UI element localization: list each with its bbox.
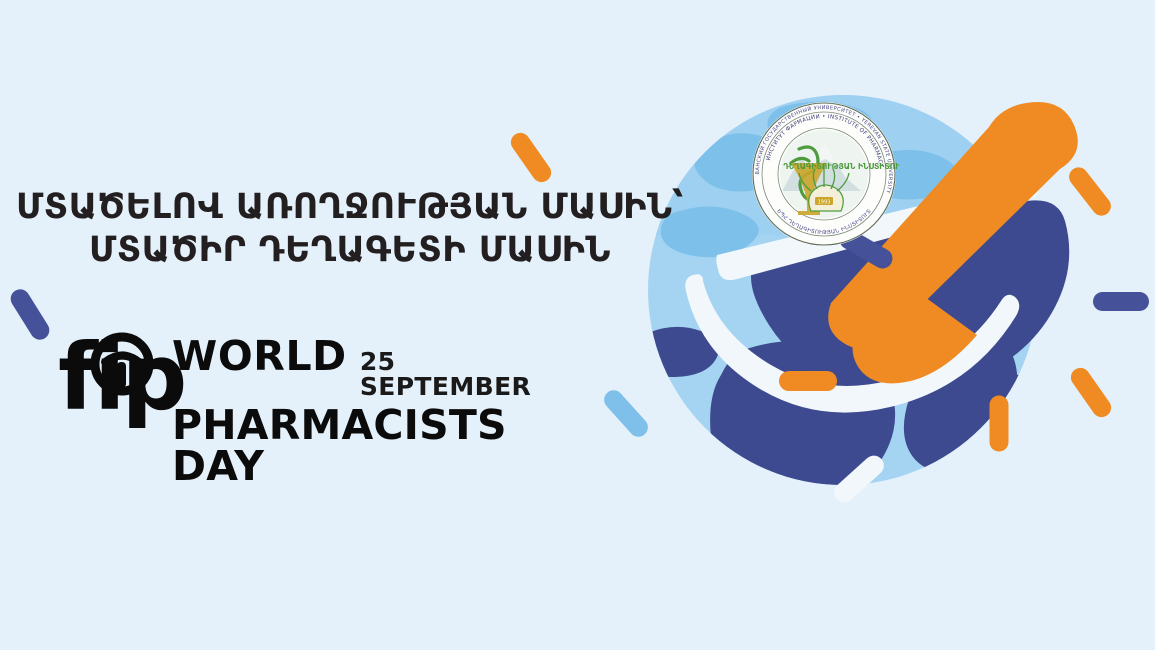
dash-orange-in-bowl <box>779 371 837 391</box>
dash-orange-bottom <box>990 396 1009 452</box>
dash-navy-top-left <box>7 286 53 344</box>
wpd-world-label: WORLD <box>172 336 347 377</box>
seal-year: 1993 <box>818 199 831 205</box>
dash-navy-right <box>1093 292 1149 311</box>
seal-center-text: ԴԵՂԱԳԻՏՈՒԹՅԱՆ ԻՆՍՏԻՏՈՒՏ <box>783 162 899 171</box>
headline-line-1: ՄՏԱԾԵԼՈՎ ԱՌՈՂՋՈՒԹՅԱՆ ՄԱՍԻՆ՝ <box>0 186 700 229</box>
fip-mark: fip <box>58 332 178 442</box>
institute-seal: 1993 ЕРЕВАНСКИЙ ГОСУДАРСТВЕННЫЙ УНИВЕРСИ… <box>749 99 899 249</box>
dash-orange-above-headline <box>507 129 555 186</box>
world-pharmacists-day-text: WORLD 25 SEPTEMBER PHARMACISTS DAY <box>172 336 572 487</box>
wpd-date-label: 25 SEPTEMBER <box>360 349 572 399</box>
fip-logo-lockup: fip WORLD 25 SEPTEMBER PHARMACISTS DAY <box>58 330 578 445</box>
fip-mortar-icon <box>58 332 178 442</box>
wpd-day-label: PHARMACISTS DAY <box>172 405 572 487</box>
poster-canvas: 1993 ЕРЕВАНСКИЙ ГОСУДАРСТВЕННЫЙ УНИВЕРСИ… <box>0 0 1155 650</box>
headline: ՄՏԱԾԵԼՈՎ ԱՌՈՂՋՈՒԹՅԱՆ ՄԱՍԻՆ՝ ՄՏԱԾԻՐ ԴԵՂԱԳ… <box>0 186 700 271</box>
headline-line-2: ՄՏԱԾԻՐ ԴԵՂԱԳԵՏԻ ՄԱՍԻՆ <box>0 229 700 272</box>
